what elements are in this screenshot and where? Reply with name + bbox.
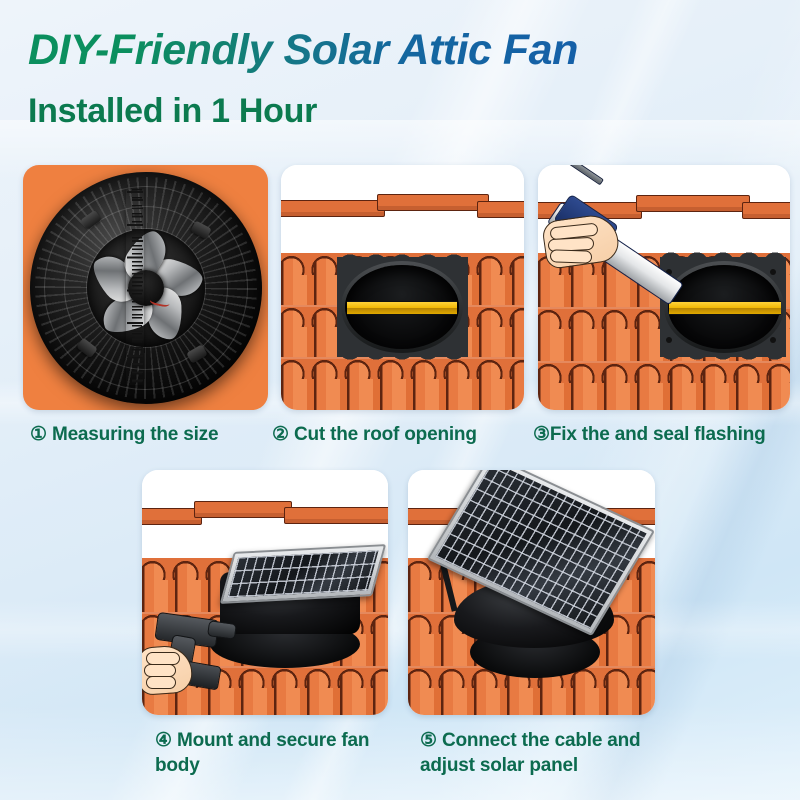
step-caption-3: ③Fix the and seal flashing	[533, 422, 766, 447]
step-image-4	[142, 470, 388, 715]
step-number-3: ③	[533, 424, 550, 445]
finger	[550, 249, 592, 263]
step-image-5	[408, 470, 655, 715]
fan-icon	[23, 165, 268, 410]
roof-opening-icon	[281, 165, 524, 410]
ruler-icon	[126, 189, 144, 385]
step-image-3	[538, 165, 790, 410]
flashing-screw	[770, 269, 776, 275]
page-subtitle: Installed in 1 Hour	[28, 92, 317, 131]
yellow-marker-stripe	[347, 301, 457, 315]
step-caption-text-1: Measuring the size	[52, 424, 218, 445]
ridge-tile	[377, 194, 489, 211]
step-caption-text-5: Connect the cable and adjust solar panel	[420, 730, 640, 776]
step-number-4: ④	[155, 730, 172, 751]
step-caption-text-4: Mount and secure fan body	[155, 730, 369, 776]
solar-cells	[227, 550, 378, 597]
finger	[146, 676, 176, 689]
ruler-major-ticks	[127, 191, 143, 383]
step-caption-text-2: Cut the roof opening	[294, 424, 477, 445]
tile-arch-row	[538, 361, 790, 383]
fan-hub	[87, 229, 205, 347]
ridge-tile	[281, 200, 385, 217]
ridge-tile	[194, 501, 292, 518]
drill-icon	[142, 470, 388, 715]
solar-panel-icon	[220, 544, 386, 604]
step-image-1	[23, 165, 268, 410]
ridge-tile	[477, 201, 524, 218]
flashing-screw	[666, 337, 672, 343]
fan-housing	[30, 172, 262, 404]
ridge-tile	[142, 508, 202, 525]
background-streak	[0, 600, 800, 660]
roof-ridge-group	[281, 194, 524, 233]
background-streak	[0, 705, 800, 800]
ridge-tile	[284, 507, 388, 524]
step-caption-text-3: Fix the and seal flashing	[550, 424, 766, 445]
caulk-gun-icon	[538, 165, 790, 410]
flashing-screw	[770, 337, 776, 343]
infographic-page: DIY-Friendly Solar Attic Fan Installed i…	[0, 0, 800, 800]
step-number-2: ②	[272, 424, 289, 445]
step-number-5: ⑤	[420, 730, 437, 751]
solar-panel-icon	[408, 470, 655, 715]
step-image-2	[281, 165, 524, 410]
ridge-tile	[636, 195, 750, 212]
step-caption-1: ① Measuring the size	[30, 422, 218, 447]
page-title: DIY-Friendly Solar Attic Fan	[28, 26, 578, 75]
ridge-tile	[742, 202, 790, 219]
step-caption-2: ② Cut the roof opening	[272, 422, 477, 447]
yellow-marker-stripe	[669, 301, 781, 315]
roof-ridge-group	[142, 499, 388, 538]
step-number-1: ①	[30, 424, 47, 445]
step-caption-4: ④ Mount and secure fan body	[155, 728, 395, 778]
step-caption-5: ⑤ Connect the cable and adjust solar pan…	[420, 728, 670, 778]
